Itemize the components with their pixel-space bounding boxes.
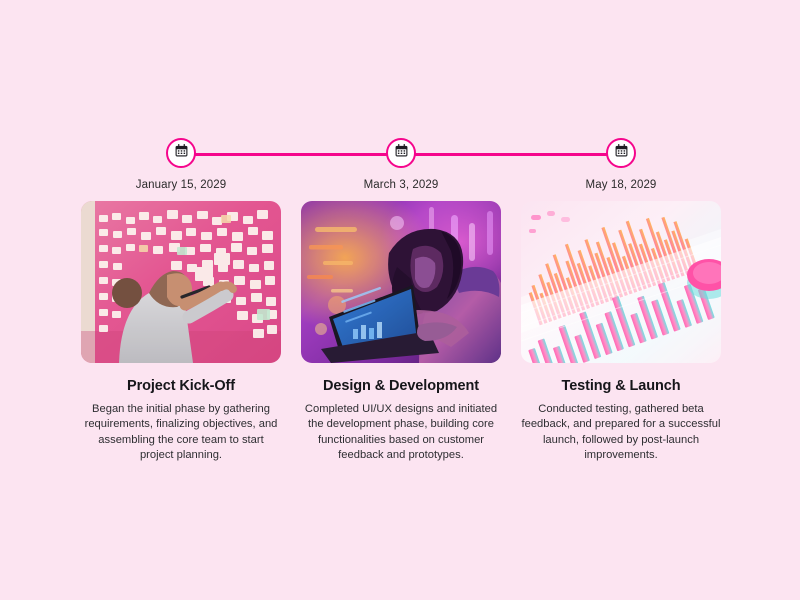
- milestone-date: May 18, 2029: [521, 179, 721, 191]
- calendar-icon: [614, 143, 629, 163]
- milestone-description: Completed UI/UX designs and initiated th…: [301, 402, 501, 464]
- timeline-node-3[interactable]: [606, 138, 636, 168]
- milestone-card: Project Kick-Off Began the initial phase…: [81, 201, 281, 464]
- milestone-card: Design & Development Completed UI/UX des…: [301, 201, 501, 464]
- milestone-image: [81, 201, 281, 363]
- calendar-icon: [394, 143, 409, 163]
- timeline-track: [0, 138, 800, 170]
- milestone-image: [521, 201, 721, 363]
- milestone-title: Design & Development: [301, 378, 501, 394]
- milestone-description: Began the initial phase by gathering req…: [81, 402, 281, 464]
- milestone-dates: January 15, 2029 March 3, 2029 May 18, 2…: [0, 179, 800, 197]
- milestone-date: January 15, 2029: [81, 179, 281, 191]
- milestone-description: Conducted testing, gathered beta feedbac…: [521, 402, 721, 464]
- milestone-date: March 3, 2029: [301, 179, 501, 191]
- calendar-icon: [174, 143, 189, 163]
- milestone-title: Testing & Launch: [521, 378, 721, 394]
- milestone-card: Testing & Launch Conducted testing, gath…: [521, 201, 721, 464]
- milestone-title: Project Kick-Off: [81, 378, 281, 394]
- timeline-node-1[interactable]: [166, 138, 196, 168]
- timeline-node-2[interactable]: [386, 138, 416, 168]
- timeline-infographic: January 15, 2029 March 3, 2029 May 18, 2…: [0, 0, 800, 600]
- milestone-image: [301, 201, 501, 363]
